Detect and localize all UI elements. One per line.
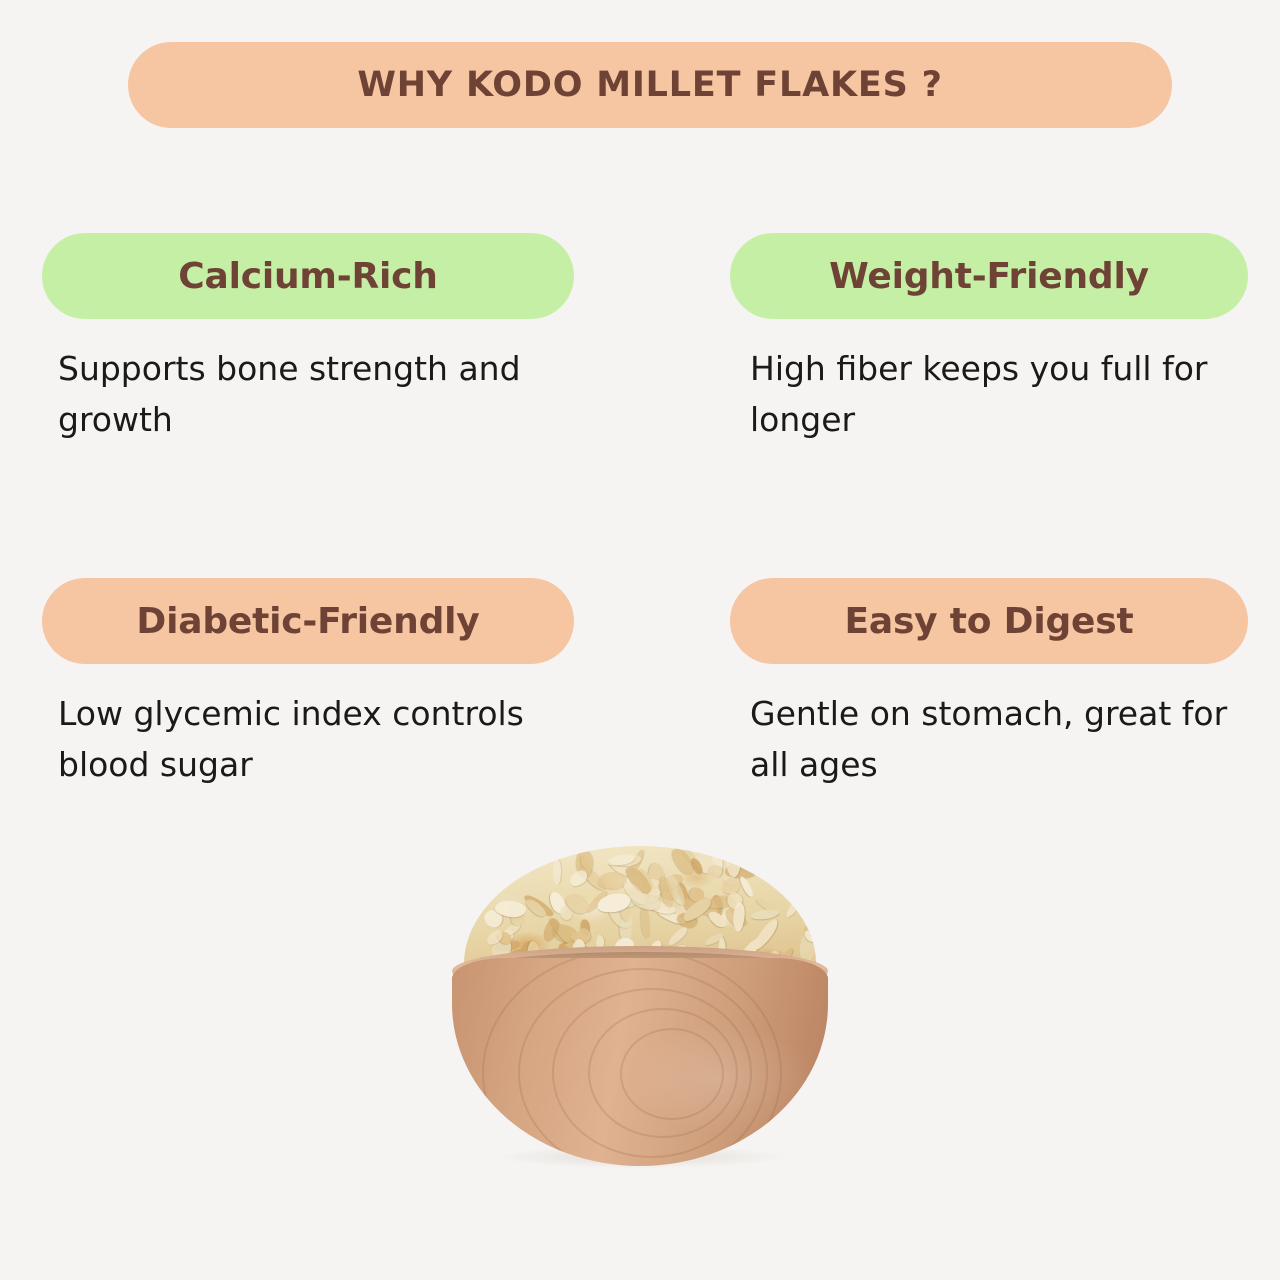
wood-grain-ring bbox=[620, 1028, 724, 1120]
benefit-card-calcium-rich: Calcium-Rich Supports bone strength and … bbox=[42, 233, 574, 445]
benefit-description: Supports bone strength and growth bbox=[42, 343, 574, 445]
millet-flake bbox=[783, 891, 808, 919]
millet-flake bbox=[667, 924, 690, 946]
benefit-pill-diabetic-friendly: Diabetic-Friendly bbox=[42, 578, 574, 664]
benefit-description: Low glycemic index controls blood sugar bbox=[42, 688, 574, 790]
benefits-grid: Calcium-Rich Supports bone strength and … bbox=[0, 233, 1280, 923]
millet-flake bbox=[739, 875, 756, 899]
benefit-card-weight-friendly: Weight-Friendly High fiber keeps you ful… bbox=[730, 233, 1248, 445]
millet-flake bbox=[708, 865, 724, 877]
benefit-label: Easy to Digest bbox=[844, 601, 1133, 642]
millet-flake bbox=[553, 859, 561, 885]
wooden-bowl-body bbox=[452, 958, 828, 1166]
benefit-description: Gentle on stomach, great for all ages bbox=[730, 688, 1248, 790]
benefit-label: Diabetic-Friendly bbox=[136, 601, 479, 642]
millet-flake bbox=[811, 897, 816, 924]
benefit-label: Calcium-Rich bbox=[178, 256, 437, 297]
benefit-card-easy-to-digest: Easy to Digest Gentle on stomach, great … bbox=[730, 578, 1248, 790]
header-pill: WHY KODO MILLET FLAKES ? bbox=[128, 42, 1172, 128]
benefit-card-diabetic-friendly: Diabetic-Friendly Low glycemic index con… bbox=[42, 578, 574, 790]
benefit-pill-weight-friendly: Weight-Friendly bbox=[730, 233, 1248, 319]
benefit-pill-easy-to-digest: Easy to Digest bbox=[730, 578, 1248, 664]
product-image-bowl-of-millet-flakes bbox=[440, 846, 840, 1166]
millet-flake bbox=[640, 906, 651, 938]
benefit-pill-calcium-rich: Calcium-Rich bbox=[42, 233, 574, 319]
benefit-description: High fiber keeps you full for longer bbox=[730, 343, 1248, 445]
page-title: WHY KODO MILLET FLAKES ? bbox=[357, 65, 942, 105]
benefit-label: Weight-Friendly bbox=[829, 256, 1149, 297]
infographic-page: WHY KODO MILLET FLAKES ? Calcium-Rich Su… bbox=[0, 0, 1280, 1280]
millet-flake bbox=[750, 917, 780, 952]
benefits-row-1: Calcium-Rich Supports bone strength and … bbox=[0, 233, 1280, 578]
